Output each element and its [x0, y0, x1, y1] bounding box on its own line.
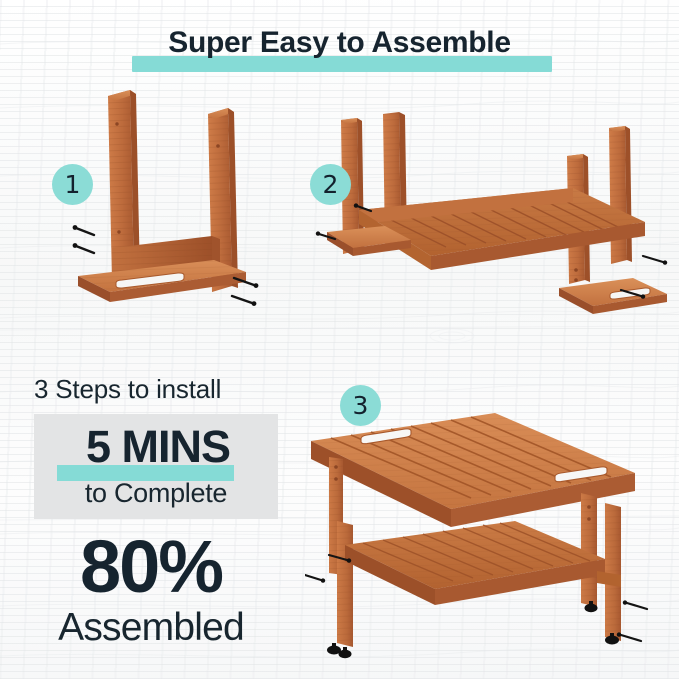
steps-to-install-label: 3 Steps to install [34, 374, 221, 405]
minutes-value: 5 MINS [47, 421, 269, 473]
page-title-area: Super Easy to Assemble [0, 26, 679, 76]
minutes-caption: to Complete [34, 478, 278, 509]
percent-caption: Assembled [26, 608, 276, 647]
step-badge-2: 2 [310, 164, 351, 205]
infographic-page: Super Easy to Assemble [0, 0, 679, 679]
step-badge-1: 1 [52, 164, 93, 205]
step-badge-3: 3 [340, 385, 381, 426]
page-title: Super Easy to Assemble [0, 26, 679, 60]
percent-value: 80% [26, 530, 276, 604]
